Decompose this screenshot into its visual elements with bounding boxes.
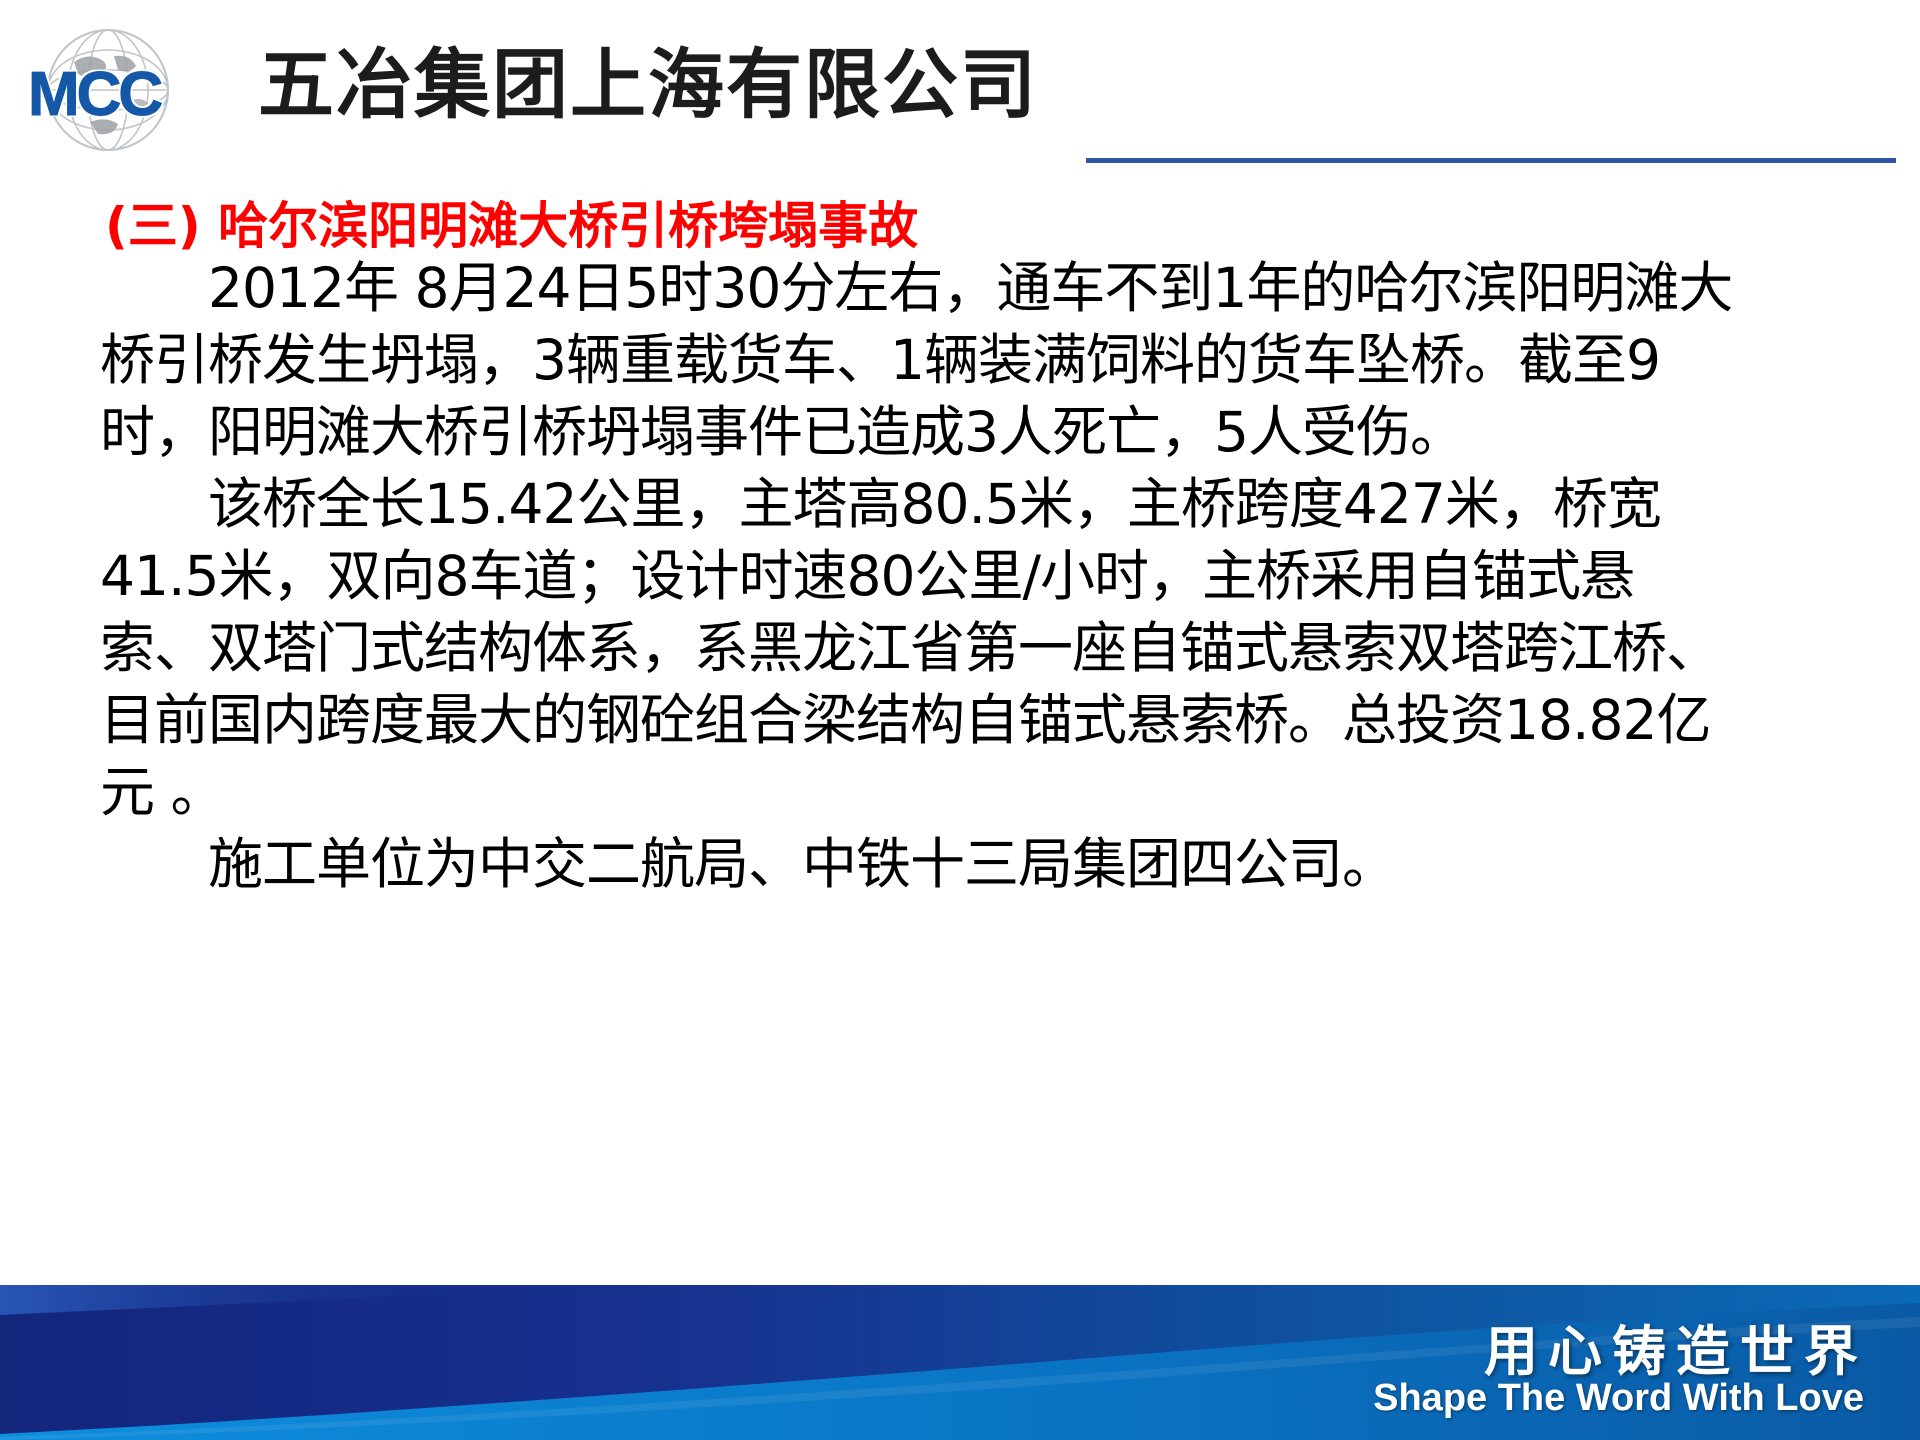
paragraph-3: 施工单位为中交二航局、中铁十三局集团四公司。 bbox=[100, 828, 1740, 900]
header-divider bbox=[1086, 158, 1896, 163]
paragraph-2: 该桥全长15.42公里，主塔高80.5米，主桥跨度427米，桥宽41.5米，双向… bbox=[100, 468, 1740, 828]
footer-slogan-english: Shape The Word With Love bbox=[1373, 1377, 1864, 1420]
company-name: 五冶集团上海有限公司 bbox=[258, 42, 1038, 128]
paragraph-1: 2012年 8月24日5时30分左右，通车不到1年的哈尔滨阳明滩大桥引桥发生坍塌… bbox=[100, 252, 1740, 468]
company-logo: MCC bbox=[22, 24, 250, 156]
footer-slogan-chinese: 用心铸造世界 bbox=[1484, 1307, 1868, 1386]
section-heading: (三) 哈尔滨阳明滩大桥引桥垮塌事故 bbox=[105, 186, 918, 258]
body-text: 2012年 8月24日5时30分左右，通车不到1年的哈尔滨阳明滩大桥引桥发生坍塌… bbox=[100, 252, 1740, 900]
slide-header: MCC 五冶集团上海有限公司 bbox=[0, 0, 1920, 178]
slide-footer: 用心铸造世界 Shape The Word With Love bbox=[0, 1285, 1920, 1440]
mcc-wordmark: MCC bbox=[28, 64, 250, 126]
